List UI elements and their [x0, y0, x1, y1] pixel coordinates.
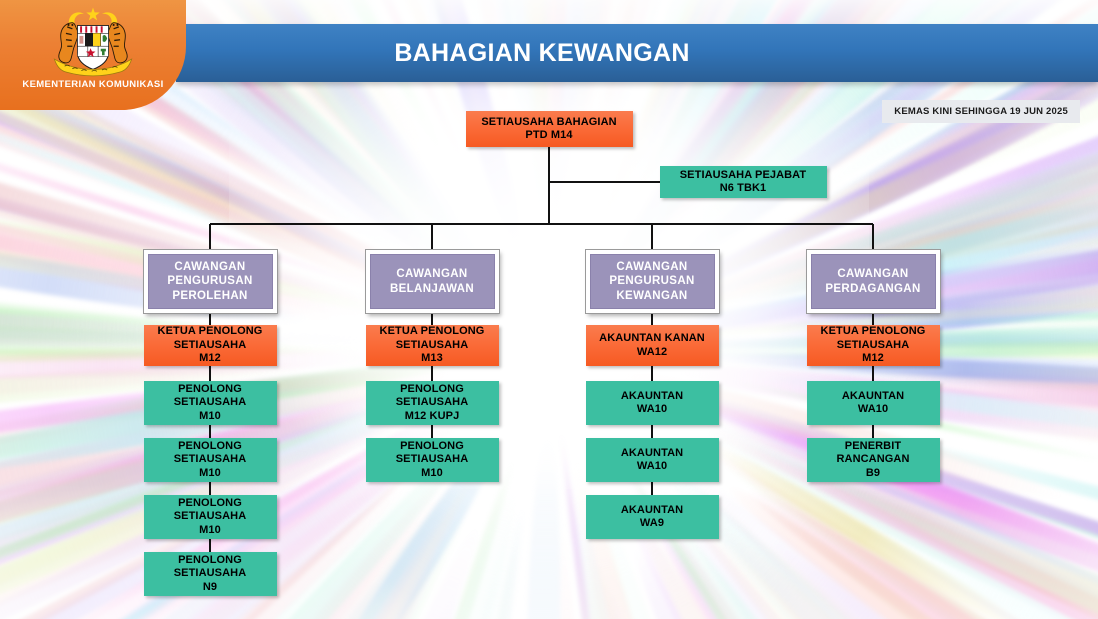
connector-bus-to-head-2 [431, 224, 433, 250]
node-col2-item-1-line-1: KETUA PENOLONG [380, 325, 485, 338]
node-col4-item-1-line-2: SETIAUSAHA [837, 339, 910, 352]
connector-col2-link-3 [431, 425, 433, 438]
node-col2-item-3-line-2: SETIAUSAHA [396, 453, 469, 466]
node-col2-item-3[interactable]: PENOLONGSETIAUSAHAM10 [366, 438, 499, 482]
connector-col3-link-4 [651, 482, 653, 495]
node-setiausaha-pejabat-line-1: SETIAUSAHA PEJABAT [680, 169, 806, 182]
node-col1-item-4-line-2: SETIAUSAHA [174, 510, 247, 523]
node-col4-item-2-line-2: WA10 [858, 403, 888, 416]
node-col3-item-3-line-2: WA10 [637, 460, 667, 473]
node-head-cawangan-pengurusan-kewangan-line-3: KEWANGAN [616, 289, 687, 303]
node-col2-item-2-line-2: SETIAUSAHA [396, 396, 469, 409]
node-col4-item-1[interactable]: KETUA PENOLONGSETIAUSAHAM12 [807, 325, 940, 366]
malaysia-coat-of-arms-icon [41, 5, 145, 81]
ministry-label: KEMENTERIAN KOMUNIKASI [22, 79, 163, 90]
node-col4-item-1-line-3: M12 [862, 352, 884, 365]
node-setiausaha-bahagian-line-1: SETIAUSAHA BAHAGIAN [481, 116, 616, 129]
node-col1-item-3-line-3: M10 [199, 467, 221, 480]
node-head-cawangan-pengurusan-kewangan[interactable]: CAWANGANPENGURUSANKEWANGAN [586, 250, 719, 313]
connector-bus-to-head-4 [872, 224, 874, 250]
node-col1-item-1-line-2: SETIAUSAHA [174, 339, 247, 352]
connector-root-to-aide [549, 181, 660, 183]
update-date-badge: KEMAS KINI SEHINGGA 19 JUN 2025 [882, 100, 1080, 123]
node-head-cawangan-perdagangan-line-1: CAWANGAN [837, 267, 908, 281]
node-head-cawangan-pengurusan-perolehan-line-3: PEROLEHAN [172, 289, 247, 303]
node-col1-item-2[interactable]: PENOLONGSETIAUSAHAM10 [144, 381, 277, 425]
node-head-cawangan-perdagangan[interactable]: CAWANGANPERDAGANGAN [807, 250, 940, 313]
connector-col3-link-1 [651, 313, 653, 325]
node-col2-item-3-line-3: M10 [421, 467, 443, 480]
node-col3-item-2-line-1: AKAUNTAN [621, 390, 683, 403]
node-head-cawangan-pengurusan-perolehan-line-1: CAWANGAN [174, 260, 245, 274]
node-col1-item-5-line-3: N9 [203, 581, 217, 594]
node-head-cawangan-pengurusan-perolehan-line-2: PENGURUSAN [167, 274, 252, 288]
node-col4-item-3-line-2: RANCANGAN [836, 453, 909, 466]
node-col1-item-5-line-2: SETIAUSAHA [174, 567, 247, 580]
connector-col3-link-3 [651, 425, 653, 438]
node-col3-item-2[interactable]: AKAUNTANWA10 [586, 381, 719, 425]
connector-col1-link-1 [209, 313, 211, 325]
connector-col3-link-2 [651, 366, 653, 381]
page-title: BAHAGIAN KEWANGAN [394, 39, 879, 68]
node-col1-item-2-line-2: SETIAUSAHA [174, 396, 247, 409]
node-col1-item-1-line-1: KETUA PENOLONG [158, 325, 263, 338]
node-col3-item-4[interactable]: AKAUNTANWA9 [586, 495, 719, 539]
connector-col1-link-5 [209, 539, 211, 552]
node-col4-item-3[interactable]: PENERBITRANCANGANB9 [807, 438, 940, 482]
connector-bus-to-head-3 [651, 224, 653, 250]
node-setiausaha-bahagian[interactable]: SETIAUSAHA BAHAGIANPTD M14 [466, 111, 633, 147]
node-col1-item-2-line-3: M10 [199, 410, 221, 423]
connector-col4-link-3 [872, 425, 874, 438]
connector-col1-link-2 [209, 366, 211, 381]
node-col1-item-5[interactable]: PENOLONGSETIAUSAHAN9 [144, 552, 277, 596]
node-col2-item-2[interactable]: PENOLONGSETIAUSAHAM12 KUPJ [366, 381, 499, 425]
node-setiausaha-pejabat-line-2: N6 TBK1 [720, 182, 767, 195]
node-col2-item-2-line-3: M12 KUPJ [405, 410, 460, 423]
node-setiausaha-pejabat[interactable]: SETIAUSAHA PEJABATN6 TBK1 [660, 166, 827, 198]
node-col2-item-3-line-1: PENOLONG [400, 440, 464, 453]
node-col3-item-2-line-2: WA10 [637, 403, 667, 416]
node-col2-item-1-line-2: SETIAUSAHA [396, 339, 469, 352]
node-col3-item-1-line-1: AKAUNTAN KANAN [599, 332, 705, 345]
node-col1-item-3[interactable]: PENOLONGSETIAUSAHAM10 [144, 438, 277, 482]
node-head-cawangan-belanjawan[interactable]: CAWANGANBELANJAWAN [366, 250, 499, 313]
node-col1-item-1-line-3: M12 [199, 352, 221, 365]
connector-col4-link-1 [872, 313, 874, 325]
node-col4-item-2[interactable]: AKAUNTANWA10 [807, 381, 940, 425]
node-col4-item-3-line-1: PENERBIT [845, 440, 901, 453]
node-col1-item-2-line-1: PENOLONG [178, 383, 242, 396]
node-col4-item-2-line-1: AKAUNTAN [842, 390, 904, 403]
connector-bus-to-head-1 [209, 224, 211, 250]
connector-col4-link-2 [872, 366, 874, 381]
node-col4-item-3-line-3: B9 [866, 467, 880, 480]
node-col1-item-4[interactable]: PENOLONGSETIAUSAHAM10 [144, 495, 277, 539]
node-head-cawangan-belanjawan-line-1: CAWANGAN [396, 267, 467, 281]
node-head-cawangan-pengurusan-kewangan-line-2: PENGURUSAN [609, 274, 694, 288]
connector-col1-link-3 [209, 425, 211, 438]
node-col2-item-1-line-3: M13 [421, 352, 443, 365]
node-col2-item-1[interactable]: KETUA PENOLONGSETIAUSAHAM13 [366, 325, 499, 366]
node-col1-item-5-line-1: PENOLONG [178, 554, 242, 567]
connector-branch-bus [210, 223, 873, 225]
header-bar: BAHAGIAN KEWANGAN [176, 24, 1098, 82]
node-head-cawangan-belanjawan-line-2: BELANJAWAN [390, 282, 474, 296]
connector-col2-link-2 [431, 366, 433, 381]
node-col1-item-4-line-1: PENOLONG [178, 497, 242, 510]
node-col1-item-3-line-2: SETIAUSAHA [174, 453, 247, 466]
ministry-logo-panel: KEMENTERIAN KOMUNIKASI [0, 0, 186, 110]
node-col3-item-4-line-2: WA9 [640, 517, 664, 530]
node-col1-item-1[interactable]: KETUA PENOLONGSETIAUSAHAM12 [144, 325, 277, 366]
node-col3-item-1[interactable]: AKAUNTAN KANANWA12 [586, 325, 719, 366]
node-col3-item-3-line-1: AKAUNTAN [621, 447, 683, 460]
org-chart-page: BAHAGIAN KEWANGAN [0, 0, 1098, 619]
node-col1-item-4-line-3: M10 [199, 524, 221, 537]
node-head-cawangan-perdagangan-line-2: PERDAGANGAN [825, 282, 920, 296]
node-col3-item-3[interactable]: AKAUNTANWA10 [586, 438, 719, 482]
connector-root-trunk [548, 147, 550, 224]
node-setiausaha-bahagian-line-2: PTD M14 [525, 129, 572, 142]
connector-col2-link-1 [431, 313, 433, 325]
node-col2-item-2-line-1: PENOLONG [400, 383, 464, 396]
node-col3-item-4-line-1: AKAUNTAN [621, 504, 683, 517]
node-head-cawangan-pengurusan-perolehan[interactable]: CAWANGANPENGURUSANPEROLEHAN [144, 250, 277, 313]
node-col3-item-1-line-2: WA12 [637, 346, 667, 359]
node-col4-item-1-line-1: KETUA PENOLONG [821, 325, 926, 338]
node-head-cawangan-pengurusan-kewangan-line-1: CAWANGAN [616, 260, 687, 274]
node-col1-item-3-line-1: PENOLONG [178, 440, 242, 453]
connector-col1-link-4 [209, 482, 211, 495]
